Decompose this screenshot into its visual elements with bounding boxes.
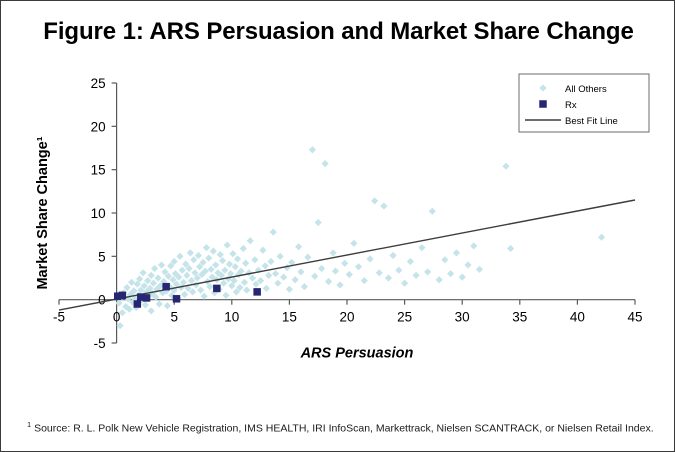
data-point-rx (539, 100, 547, 108)
data-point-all-others (123, 284, 130, 291)
data-point-all-others (219, 257, 226, 264)
y-axis-tick-label: 15 (91, 163, 106, 178)
data-point-all-others (447, 270, 454, 277)
data-point-all-others (229, 250, 236, 257)
data-point-all-others (181, 291, 188, 298)
x-axis-tick-label: 20 (339, 310, 354, 325)
data-point-all-others (453, 249, 460, 256)
data-point-all-others (265, 272, 272, 279)
data-point-all-others (164, 302, 171, 309)
data-point-all-others (318, 265, 325, 272)
y-axis-tick-label: 20 (91, 119, 106, 134)
x-axis-tick-label: 30 (455, 310, 470, 325)
data-point-all-others (190, 256, 197, 263)
data-point-all-others (385, 274, 392, 281)
data-point-all-others (325, 278, 332, 285)
y-axis-tick-label: 25 (91, 76, 106, 91)
data-point-all-others (220, 280, 227, 287)
data-point-all-others (183, 272, 190, 279)
data-point-all-others (322, 160, 329, 167)
data-point-all-others (436, 276, 443, 283)
data-point-all-others (262, 262, 269, 269)
data-point-rx (134, 300, 142, 308)
data-point-all-others (441, 256, 448, 263)
series-all-others (115, 146, 605, 329)
data-point-all-others (201, 293, 208, 300)
data-point-all-others (407, 258, 414, 265)
y-axis-tick-label: 10 (91, 206, 106, 221)
data-point-all-others (470, 242, 477, 249)
data-point-all-others (311, 273, 318, 280)
legend-label-2: Best Fit Line (565, 116, 618, 127)
data-point-all-others (210, 248, 217, 255)
data-point-all-others (128, 279, 135, 286)
data-point-all-others (221, 267, 228, 274)
data-point-all-others (507, 245, 514, 252)
x-axis-tick-label: 10 (224, 310, 239, 325)
data-point-all-others (286, 286, 293, 293)
legend-label-1: Rx (565, 100, 577, 111)
data-point-all-others (295, 243, 302, 250)
y-axis-title-text: Market Share Change¹ (35, 136, 51, 289)
y-axis-tick-label: 0 (98, 293, 106, 308)
data-point-all-others (148, 307, 155, 314)
scatter-chart: -5051015202530354045-50510152025ARS Pers… (1, 1, 675, 452)
footnote: 1 Source: R. L. Polk New Vehicle Registr… (27, 420, 654, 435)
data-point-all-others (187, 249, 194, 256)
data-point-rx (253, 288, 260, 296)
data-point-all-others (197, 287, 204, 294)
data-point-all-others (224, 241, 231, 248)
data-point-all-others (240, 245, 247, 252)
best-fit-line (59, 200, 635, 310)
data-point-all-others (267, 258, 274, 265)
data-point-rx (143, 294, 151, 302)
data-point-all-others (176, 253, 183, 260)
data-point-all-others (242, 260, 249, 267)
data-point-all-others (272, 270, 279, 277)
chart-legend[interactable]: All OthersRxBest Fit Line (519, 74, 649, 132)
data-point-all-others (158, 261, 165, 268)
data-point-all-others (195, 252, 202, 259)
data-point-all-others (413, 272, 420, 279)
data-point-all-others (241, 279, 248, 286)
legend-label-0: All Others (565, 84, 607, 95)
data-point-all-others (401, 280, 408, 287)
data-point-all-others (212, 261, 219, 268)
data-point-all-others (297, 268, 304, 275)
x-axis-tick-label: 35 (512, 310, 527, 325)
data-point-all-others (464, 261, 471, 268)
data-point-all-others (301, 283, 308, 290)
data-point-all-others (259, 247, 266, 254)
data-point-all-others (154, 274, 161, 281)
data-point-all-others (277, 253, 284, 260)
data-point-all-others (280, 274, 287, 281)
data-point-all-others (395, 267, 402, 274)
data-point-rx (173, 295, 181, 303)
data-point-all-others (274, 280, 281, 287)
data-point-all-others (179, 267, 186, 274)
data-point-all-others (380, 202, 387, 209)
data-point-all-others (330, 249, 337, 256)
data-point-all-others (251, 256, 258, 263)
data-point-all-others (207, 266, 214, 273)
figure-container: Figure 1: ARS Persuasion and Market Shar… (0, 0, 675, 452)
x-axis-tick-label: 15 (282, 310, 297, 325)
data-point-all-others (598, 234, 605, 241)
data-point-all-others (148, 272, 155, 279)
data-point-all-others (424, 268, 431, 275)
data-point-all-others (217, 251, 224, 258)
data-point-all-others (376, 269, 383, 276)
data-point-all-others (389, 252, 396, 259)
data-point-all-others (263, 285, 270, 292)
data-point-all-others (315, 219, 322, 226)
data-point-all-others (332, 267, 339, 274)
data-point-all-others (249, 274, 256, 281)
data-point-all-others (222, 292, 229, 299)
y-axis-tick-label: 5 (98, 249, 106, 264)
data-point-all-others (304, 254, 311, 261)
data-point-all-others (142, 301, 149, 308)
data-point-all-others (151, 265, 158, 272)
x-axis-tick-label: 45 (627, 310, 642, 325)
data-point-rx (119, 292, 127, 300)
data-point-all-others (361, 277, 368, 284)
y-axis-title: Market Share Change¹ (35, 136, 51, 289)
data-point-all-others (156, 300, 163, 307)
data-point-all-others (139, 269, 146, 276)
data-point-all-others (243, 287, 250, 294)
x-axis-tick-label: 25 (397, 310, 412, 325)
data-point-all-others (476, 266, 483, 273)
x-axis-tick-label: 40 (570, 310, 585, 325)
data-point-all-others (203, 244, 210, 251)
data-point-all-others (234, 255, 241, 262)
data-point-all-others (309, 146, 316, 153)
data-point-all-others (247, 237, 254, 244)
y-axis-tick-label: -5 (94, 336, 106, 351)
data-point-all-others (459, 274, 466, 281)
data-point-all-others (418, 244, 425, 251)
data-point-all-others (270, 228, 277, 235)
data-point-all-others (429, 208, 436, 215)
data-point-all-others (346, 271, 353, 278)
data-point-all-others (502, 163, 509, 170)
data-point-all-others (336, 281, 343, 288)
data-point-all-others (350, 240, 357, 247)
data-point-all-others (205, 254, 212, 261)
data-point-all-others (341, 260, 348, 267)
data-point-rx (213, 285, 221, 293)
data-point-all-others (355, 263, 362, 270)
x-axis-title: ARS Persuasion (300, 346, 414, 362)
x-axis-tick-label: 0 (113, 310, 121, 325)
data-point-all-others (292, 276, 299, 283)
x-axis-tick-label: 5 (170, 310, 178, 325)
data-point-rx (162, 283, 170, 291)
footnote-text: Source: R. L. Polk New Vehicle Registrat… (31, 423, 653, 435)
data-point-all-others (366, 255, 373, 262)
x-axis-tick-label: -5 (53, 310, 65, 325)
data-point-all-others (371, 197, 378, 204)
